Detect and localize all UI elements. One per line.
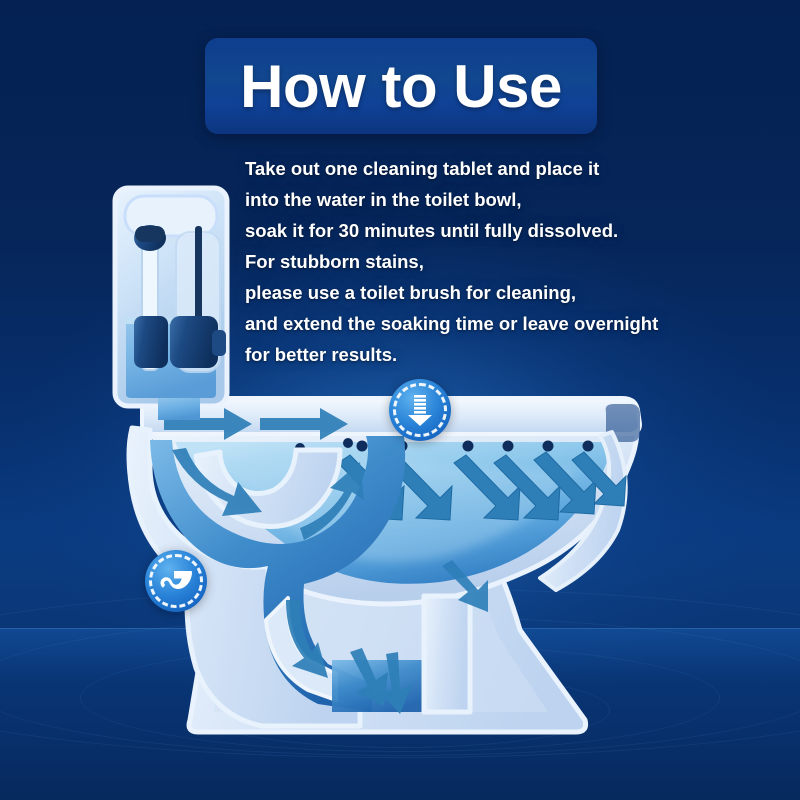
water-inflow-badge (389, 379, 451, 441)
instruction-line: please use a toilet brush for cleaning, (245, 277, 765, 308)
flush-valve (170, 226, 226, 372)
instruction-line: soak it for 30 minutes until fully disso… (245, 215, 765, 246)
siphon-action-badge (145, 550, 207, 612)
page-title: How to Use (240, 52, 562, 121)
tank-outlet (158, 398, 200, 420)
instruction-line: For stubborn stains, (245, 246, 765, 277)
download-arrow-icon (405, 393, 435, 427)
instruction-line: Take out one cleaning tablet and place i… (245, 153, 765, 184)
poster-canvas: How to Use Take out one cleaning tablet … (0, 0, 800, 800)
outlet-pipe-wall (424, 596, 470, 712)
page-title-badge: How to Use (205, 38, 597, 134)
siphon-icon (159, 567, 193, 595)
instruction-line: into the water in the toilet bowl, (245, 184, 765, 215)
instruction-line: and extend the soaking time or leave ove… (245, 308, 765, 339)
instructions-block: Take out one cleaning tablet and place i… (245, 153, 765, 370)
instruction-line: for better results. (245, 339, 765, 370)
